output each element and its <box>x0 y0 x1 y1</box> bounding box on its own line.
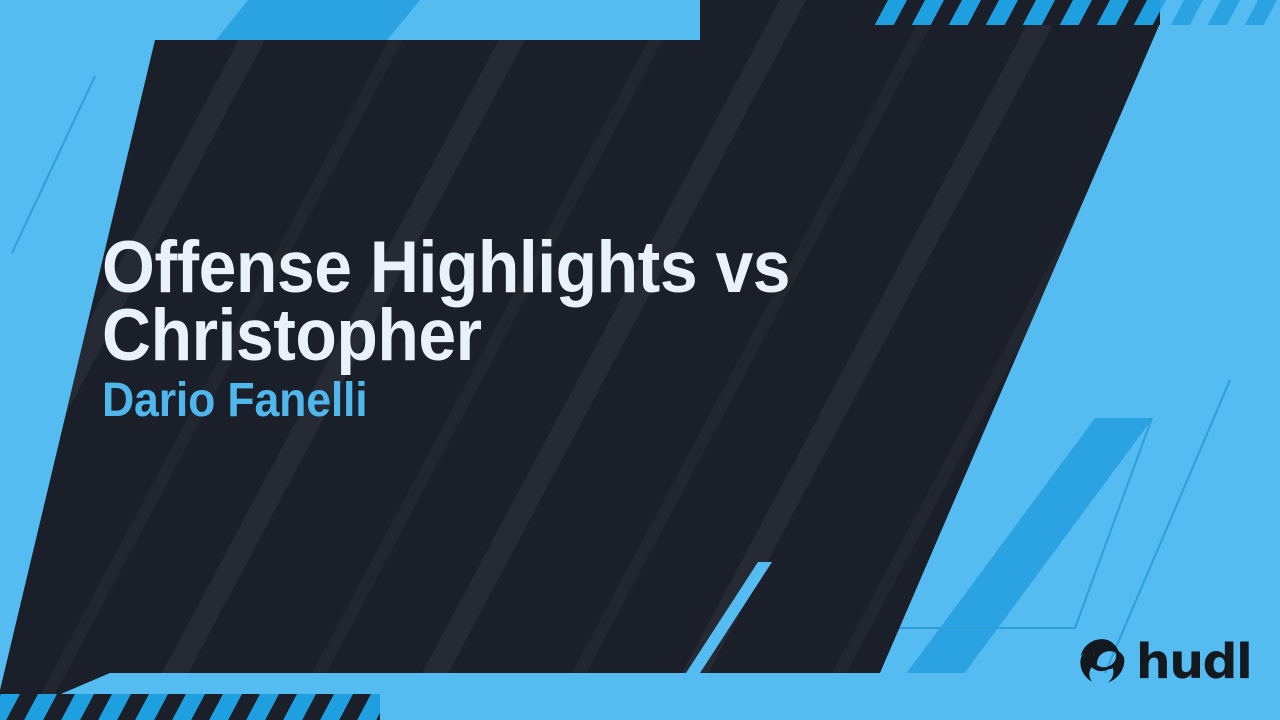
athlete-name: Dario Fanelli <box>102 377 809 425</box>
hudl-logo: hudl <box>1076 636 1250 688</box>
hudl-swirl-icon <box>1076 636 1128 688</box>
hudl-wordmark: hudl <box>1136 638 1251 686</box>
top-right-hazard-stripes <box>870 0 1280 25</box>
page-title: Offense Highlights vs Christopher <box>102 234 809 370</box>
title-text-block: Offense Highlights vs Christopher Dario … <box>102 234 862 425</box>
bottom-left-hazard-stripes <box>0 694 380 720</box>
title-card: Offense Highlights vs Christopher Dario … <box>0 0 1280 720</box>
